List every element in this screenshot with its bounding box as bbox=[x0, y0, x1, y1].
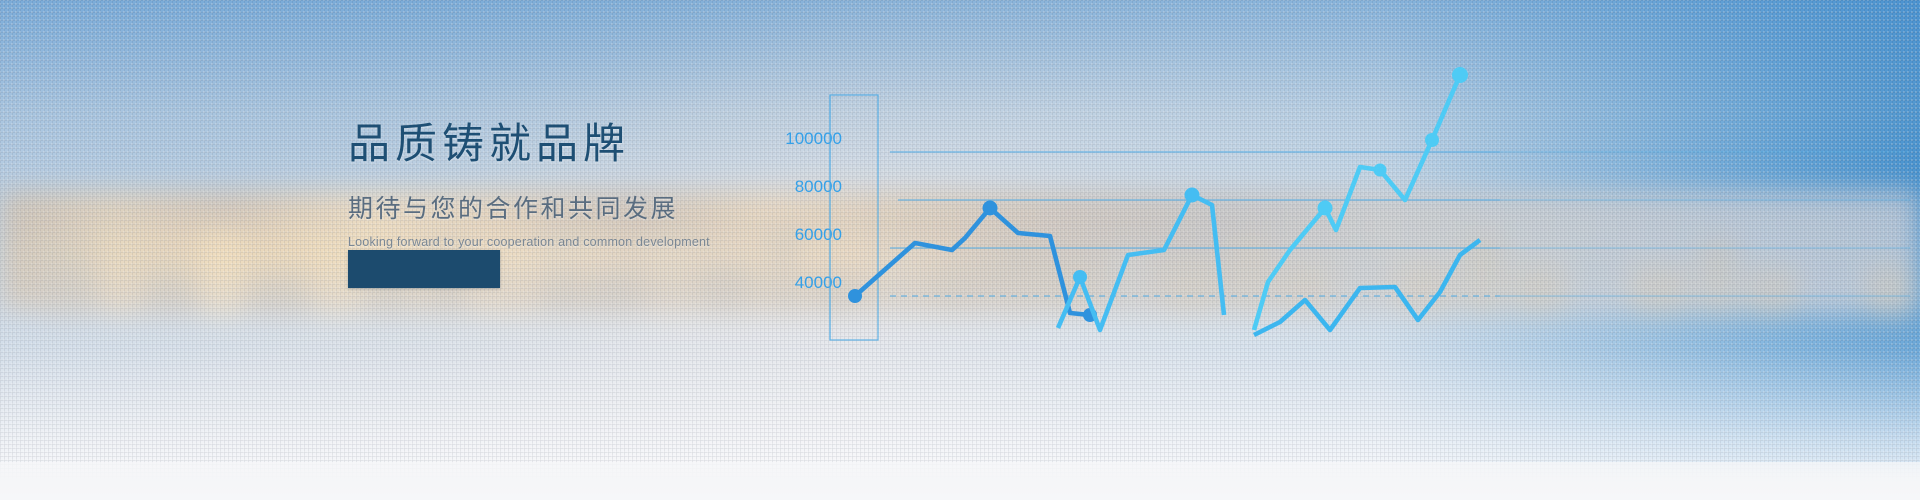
y-axis-tick-label: 80000 bbox=[795, 177, 842, 196]
data-point-marker bbox=[1185, 188, 1200, 203]
y-axis-tick-label: 100000 bbox=[785, 129, 842, 148]
y-axis-tick-label: 60000 bbox=[795, 225, 842, 244]
hero-text-block: 品质铸就品牌 期待与您的合作和共同发展 Looking forward to y… bbox=[348, 118, 768, 249]
data-point-marker bbox=[1073, 270, 1087, 284]
data-point-marker bbox=[1374, 164, 1387, 177]
chart-gridlines bbox=[890, 152, 1910, 296]
hero-subtitle: 期待与您的合作和共同发展 bbox=[348, 193, 768, 226]
data-point-marker bbox=[1452, 67, 1468, 83]
series-1-line bbox=[848, 201, 1097, 323]
y-axis-tick-label: 40000 bbox=[795, 273, 842, 292]
page-title: 品质铸就品牌 bbox=[348, 118, 768, 171]
line-chart: 100000 80000 60000 40000 bbox=[760, 0, 1920, 500]
data-point-marker bbox=[1425, 133, 1439, 147]
data-point-marker bbox=[848, 289, 862, 303]
cta-button[interactable] bbox=[348, 250, 500, 288]
chart-svg: 100000 80000 60000 40000 bbox=[760, 0, 1920, 500]
data-point-marker bbox=[983, 201, 998, 216]
hero-english-tagline: Looking forward to your cooperation and … bbox=[348, 235, 768, 249]
data-point-marker bbox=[1318, 201, 1333, 216]
hero-banner: 100000 80000 60000 40000 bbox=[0, 0, 1920, 500]
series-2-line bbox=[1058, 188, 1224, 331]
